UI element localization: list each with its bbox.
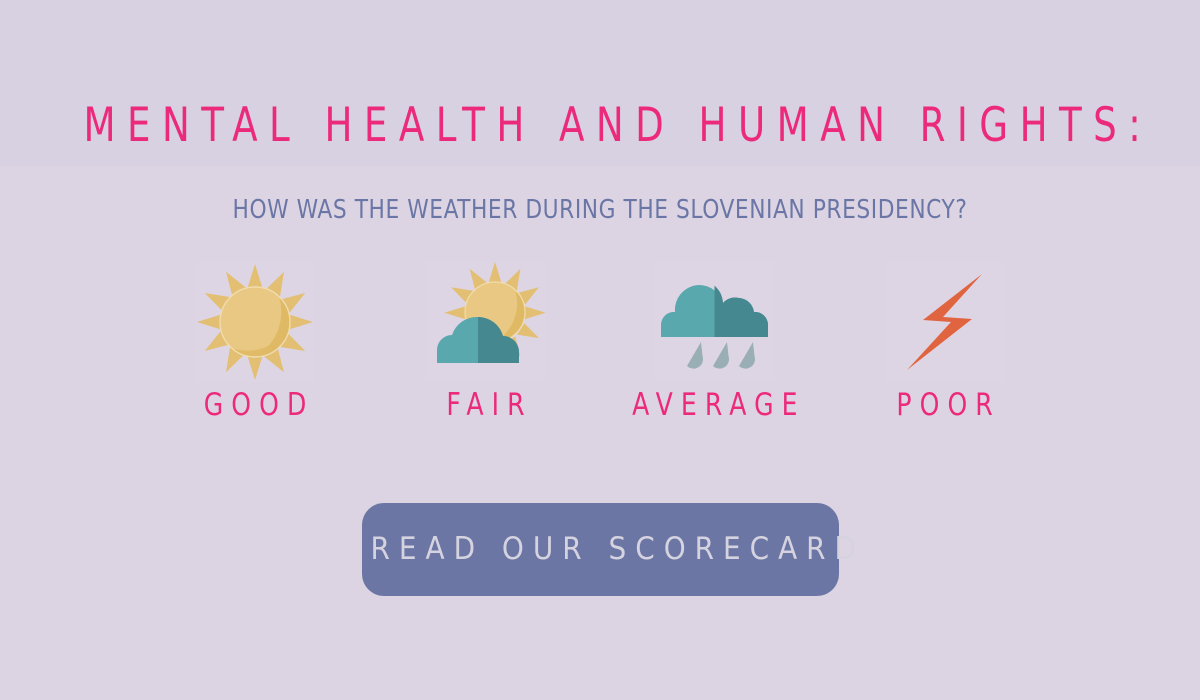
page-title: MENTAL HEALTH AND HUMAN RIGHTS: (72, 98, 1128, 154)
rain-cloud-icon (655, 262, 775, 382)
read-our-scorecard-button[interactable]: READ OUR SCORECARD (362, 503, 839, 596)
legend-item-poor: POOR (840, 262, 1050, 424)
legend-label-average: AVERAGE (624, 386, 806, 424)
legend-label-good: GOOD (196, 386, 315, 424)
sun-icon (195, 262, 315, 382)
legend-label-fair: FAIR (438, 386, 532, 424)
legend-label-poor: POOR (889, 386, 1002, 424)
page-subtitle: HOW WAS THE WEATHER DURING THE SLOVENIAN… (42, 194, 1158, 226)
legend-item-fair: FAIR (380, 262, 590, 424)
legend-item-average: AVERAGE (610, 262, 820, 424)
lightning-bolt-icon (885, 262, 1005, 382)
infographic-canvas: MENTAL HEALTH AND HUMAN RIGHTS: HOW WAS … (0, 0, 1200, 700)
background-band-bottom (0, 166, 1200, 700)
cta-container: READ OUR SCORECARD (0, 503, 1200, 596)
sun-behind-cloud-icon (425, 262, 545, 382)
legend-item-good: GOOD (150, 262, 360, 424)
weather-legend: GOOD (150, 262, 1050, 432)
